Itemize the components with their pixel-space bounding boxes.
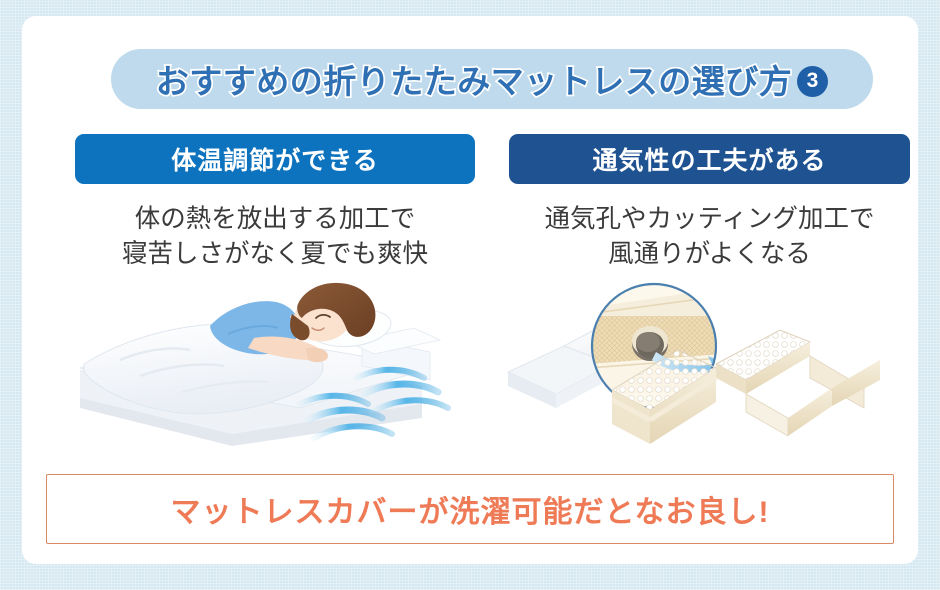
illustration-folded-mattress bbox=[492, 268, 918, 468]
bottom-note-text: マットレスカバーが洗濯可能だとなお良し! bbox=[170, 487, 769, 531]
content-card: おすすめの折りたたみマットレスの選び方3 体温調節ができる 体の熱を放出する加工… bbox=[22, 16, 918, 564]
column-header-breathability-label: 通気性の工夫がある bbox=[592, 141, 826, 177]
sleeping-woman-illustration-svg bbox=[62, 268, 482, 468]
column-body-breathability-line2: 風通りがよくなる bbox=[509, 237, 910, 272]
column-header-breathability: 通気性の工夫がある bbox=[509, 134, 910, 184]
column-header-temperature-label: 体温調節ができる bbox=[171, 141, 379, 177]
column-body-temperature: 体の熱を放出する加工で 寝苦しさがなく夏でも爽快 bbox=[75, 202, 475, 272]
page-title-label: おすすめの折りたたみマットレスの選び方 bbox=[156, 55, 793, 103]
column-body-breathability-line1: 通気孔やカッティング加工で bbox=[509, 202, 910, 237]
page-title: おすすめの折りたたみマットレスの選び方3 bbox=[111, 49, 873, 109]
folded-mattress-illustration-svg bbox=[492, 268, 918, 468]
bottom-note-banner: マットレスカバーが洗濯可能だとなお良し! bbox=[46, 474, 894, 544]
illustration-sleeping-woman bbox=[62, 268, 482, 468]
column-header-temperature: 体温調節ができる bbox=[75, 134, 475, 184]
title-step-badge: 3 bbox=[797, 66, 828, 97]
column-body-temperature-line2: 寝苦しさがなく夏でも爽快 bbox=[75, 237, 475, 272]
column-body-temperature-line1: 体の熱を放出する加工で bbox=[75, 202, 475, 237]
column-body-breathability: 通気孔やカッティング加工で 風通りがよくなる bbox=[509, 202, 910, 272]
infographic-page: おすすめの折りたたみマットレスの選び方3 体温調節ができる 体の熱を放出する加工… bbox=[0, 0, 940, 590]
